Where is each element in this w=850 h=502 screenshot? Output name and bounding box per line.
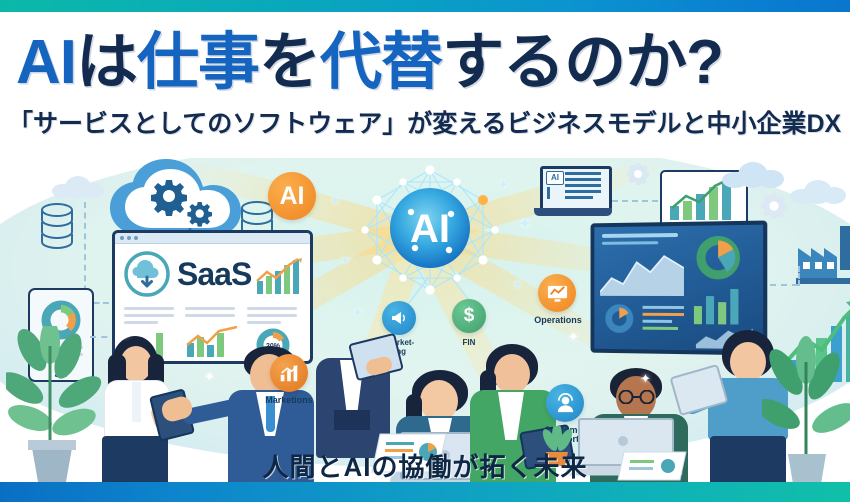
- dashed-connector-left: [84, 202, 86, 302]
- sparkle-6: ✦: [568, 330, 579, 343]
- illustration-stage: SaaS: [0, 158, 850, 502]
- bottom-gradient-rail: [0, 482, 850, 502]
- ai-network-label: AI: [410, 207, 450, 251]
- gear-right-icon: [760, 192, 788, 220]
- sparkle-8: ✦: [204, 370, 215, 383]
- operations-badge-label: Operations: [522, 316, 594, 325]
- page-subtitle: 「サービスとしてのソフトウェア」が変えるビジネスモデルと中小企業DX: [8, 109, 846, 139]
- title-seg-6: するのか?: [442, 28, 723, 97]
- orange-ai-badge-label: AI: [280, 182, 305, 211]
- cloud-small-left-icon: [52, 176, 104, 198]
- orange-ai-badge: AI: [268, 172, 316, 220]
- glasses-icon: [616, 390, 658, 404]
- sparkle-7: ✦: [498, 178, 509, 191]
- factory-icon: [796, 220, 850, 286]
- dashed-connector-factory-v: [798, 266, 800, 286]
- sparkle-2: ✦: [330, 194, 341, 207]
- cloud-right2-icon: [790, 180, 846, 204]
- title-seg-4: を: [259, 28, 320, 97]
- title-seg-2: は: [76, 28, 137, 97]
- operations-badge-icon: [538, 274, 576, 312]
- cloud-right-icon: [722, 162, 784, 188]
- sparkle-10: ✦: [640, 372, 651, 385]
- top-gradient-rail: [0, 0, 850, 12]
- saas-screen-label: SaaS: [177, 256, 251, 293]
- title-seg-1: AI: [16, 28, 76, 97]
- sparkle-4: ✦: [518, 218, 531, 231]
- database-left-icon: [40, 202, 74, 250]
- title-seg-3: 仕事: [137, 28, 259, 97]
- marketions-badge-icon: [270, 354, 308, 392]
- sparkle-1: ✦: [120, 328, 131, 341]
- poster-hero: AIは仕事を代替するのか? 「サービスとしてのソフトウェア」が変えるビジネスモデ…: [0, 0, 850, 502]
- headline-block: AIは仕事を代替するのか? 「サービスとしてのソフトウェア」が変えるビジネスモデ…: [0, 12, 850, 160]
- bottom-caption: 人間とAIの協働が拓く未来: [0, 452, 850, 482]
- ai-laptop-icon: AI: [534, 166, 612, 222]
- title-seg-5: 代替: [320, 28, 442, 97]
- page-title: AIは仕事を代替するのか?: [16, 26, 838, 100]
- sparkle-3: ✦: [340, 254, 351, 267]
- sparkle-9: ✦: [352, 306, 363, 319]
- finance-badge-icon: $: [452, 299, 486, 333]
- sparkle-5: ✦: [512, 278, 523, 291]
- dashed-connector-right: [612, 200, 658, 202]
- gear-top-icon: [626, 162, 650, 186]
- ai-laptop-label: AI: [546, 171, 564, 185]
